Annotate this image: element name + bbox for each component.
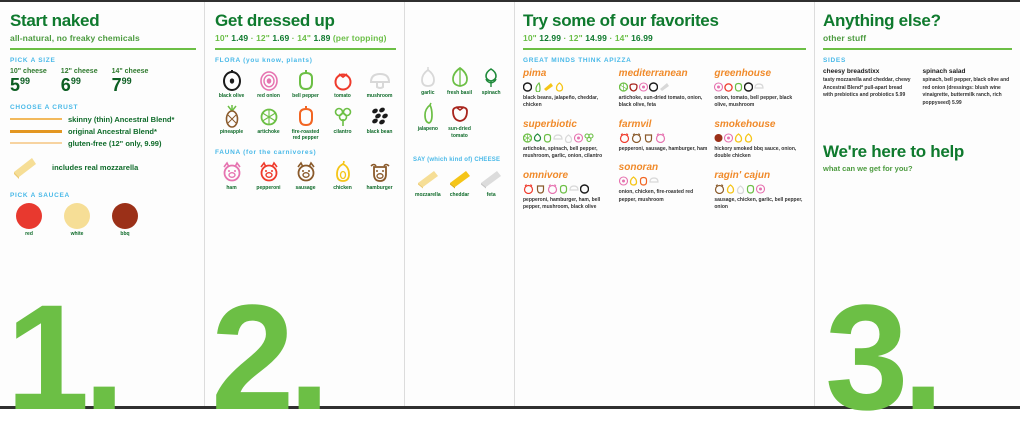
topping-item[interactable]: cilantro [326, 104, 359, 142]
panel-get-dressed-up: Get dressed up 10" 1.49 · 12" 1.69 · 14"… [205, 2, 405, 406]
panel1-title: Start naked [10, 12, 196, 30]
cheese-item[interactable]: mozzarella [413, 167, 443, 198]
flora-label: FLORA (you know, plants) [215, 57, 396, 64]
pizza-topping-icons [523, 132, 615, 144]
step-number-1: 1. [6, 282, 119, 432]
choose-a-crust-label: CHOOSE A CRUST [10, 104, 196, 111]
pig-icon [252, 160, 285, 184]
favorites-column: pima black beans, jalapeño, cheddar, chi… [523, 68, 615, 221]
topping-label: bell pepper [289, 93, 322, 99]
pizza-topping-icons [619, 175, 711, 187]
sauce-option[interactable]: bbq [112, 203, 138, 237]
pizza-description: sausage, chicken, garlic, bell pepper, o… [714, 197, 806, 212]
pizza-item[interactable]: ragin' cajun sausage, chicken, garlic, b… [714, 170, 806, 212]
sauce-swatch-icon [64, 203, 90, 229]
topping-label: fresh basil [445, 90, 475, 96]
pizza-item[interactable]: superbiotic artichoke, spinach, bell pep… [523, 119, 615, 161]
side-item[interactable]: spinach salad spinach, bell pepper, blac… [923, 68, 1013, 108]
sauce-label: white [64, 231, 90, 237]
panel5-title: Anything else? [823, 12, 1012, 30]
size-options: 10" cheese 599 12" cheese 699 14" cheese… [10, 68, 196, 94]
pizza-item[interactable]: sonoran onion, chicken, fire-roasted red… [619, 162, 711, 204]
topping-label: cilantro [326, 129, 359, 135]
side-name: spinach salad [923, 68, 1013, 75]
cheese-row: mozzarella cheddar feta [413, 167, 506, 198]
favorites-columns: pima black beans, jalapeño, cheddar, chi… [523, 68, 806, 221]
panel-anything-else: Anything else? other stuff SIDES cheesy … [815, 2, 1020, 406]
size-price: 699 [61, 76, 98, 94]
topping-item[interactable]: pineapple [215, 104, 248, 142]
topping-item[interactable]: black bean [363, 104, 396, 142]
pig-icon [289, 160, 322, 184]
topping-item[interactable]: fresh basil [445, 65, 475, 96]
step-number-2: 2. [211, 282, 324, 432]
pizza-topping-icons [619, 81, 711, 93]
pizza-item[interactable]: pima black beans, jalapeño, cheddar, chi… [523, 68, 615, 110]
step-number-3: 3. [825, 282, 938, 432]
jalapeno-icon [413, 101, 443, 125]
topping-label: ham [215, 185, 248, 191]
sauce-option[interactable]: white [64, 203, 90, 237]
topping-item[interactable]: red onion [252, 68, 285, 99]
favorites-column: greenhouse onion, tomato, bell pepper, b… [714, 68, 806, 221]
size-name: 12" cheese [61, 68, 98, 75]
size-name: 10" cheese [10, 68, 47, 75]
topping-item[interactable]: chicken [326, 160, 359, 191]
topping-label: black bean [363, 129, 396, 135]
topping-label: pepperoni [252, 185, 285, 191]
pizza-name: mediterranean [619, 68, 711, 79]
crust-label: gluten-free (12" only, 9.99) [68, 139, 161, 148]
garlic-icon [413, 65, 443, 89]
cheese-icon [476, 167, 506, 191]
pizza-topping-icons [523, 183, 615, 195]
pizza-topping-icons [619, 132, 711, 144]
topping-label: fire-roasted red pepper [289, 129, 322, 142]
help-title: We're here to help [823, 142, 1012, 162]
cheese-label: SAY (which kind of) CHEESE [413, 157, 506, 163]
panel1-divider [10, 48, 196, 50]
panel2-price-line: 10" 1.49 · 12" 1.69 · 14" 1.89 (per topp… [215, 33, 396, 43]
topping-item[interactable]: jalapeno [413, 101, 443, 139]
sundried-tomato-icon [445, 101, 475, 125]
herb-row-2: jalapeno sun-dried tomato [413, 101, 506, 139]
pizza-name: sonoran [619, 162, 711, 173]
apizza-label: GREAT MINDS THINK APIZZA [523, 57, 806, 64]
crust-option[interactable]: gluten-free (12" only, 9.99) [10, 139, 196, 148]
panel4-price-line: 10" 12.99 · 12" 14.99 · 14" 16.99 [523, 33, 806, 43]
topping-item[interactable]: sausage [289, 160, 322, 191]
pizza-description: pepperoni, hamburger, ham, bell pepper, … [523, 197, 615, 212]
cheese-label-text: mozzarella [413, 192, 443, 198]
crust-label: skinny (thin) Ancestral Blend* [68, 115, 174, 124]
cow-icon [363, 160, 396, 184]
panel2-title: Get dressed up [215, 12, 396, 30]
pizza-description: artichoke, sun-dried tomato, onion, blac… [619, 95, 711, 110]
topping-item[interactable]: sun-dried tomato [445, 101, 475, 139]
size-option[interactable]: 12" cheese 699 [61, 68, 98, 94]
topping-item[interactable]: black olive [215, 68, 248, 99]
pizza-name: smokehouse [714, 119, 806, 130]
chicken-icon [326, 160, 359, 184]
flora-row-1: black olive red onion bell pepper tomato… [215, 68, 396, 99]
topping-item[interactable]: hamburger [363, 160, 396, 191]
topping-item[interactable]: bell pepper [289, 68, 322, 99]
cheese-item[interactable]: feta [476, 167, 506, 198]
pig-icon [215, 160, 248, 184]
topping-item[interactable]: garlic [413, 65, 443, 96]
pizza-name: ragin' cajun [714, 170, 806, 181]
topping-item[interactable]: fire-roasted red pepper [289, 104, 322, 142]
pizza-item[interactable]: smokehouse hickory smoked bbq sauce, oni… [714, 119, 806, 161]
size-price: 599 [10, 76, 47, 94]
pizza-name: superbiotic [523, 119, 615, 130]
herb-row-1: garlic fresh basil spinach [413, 65, 506, 96]
panel2-divider [215, 48, 396, 50]
sauce-label: red [16, 231, 42, 237]
pick-a-sauce-label: PICK A SAUCEA [10, 192, 196, 199]
size-option[interactable]: 14" cheese 799 [112, 68, 149, 94]
pepper-icon [289, 68, 322, 92]
pizza-topping-icons [714, 81, 806, 93]
sauce-swatch-icon [16, 203, 42, 229]
panel4-divider [523, 48, 806, 50]
fauna-label: FAUNA (for the carnivores) [215, 149, 396, 156]
pizza-description: onion, tomato, bell pepper, black olive,… [714, 95, 806, 110]
olive-icon [215, 68, 248, 92]
pizza-description: pepperoni, sausage, hamburger, ham [619, 146, 711, 154]
sauce-option[interactable]: red [16, 203, 42, 237]
topping-label: hamburger [363, 185, 396, 191]
side-name: cheesy breadstixx [823, 68, 913, 75]
topping-item[interactable]: mushroom [363, 68, 396, 99]
pizza-topping-icons [523, 81, 615, 93]
topping-spacer [476, 101, 506, 139]
pizza-name: omnivore [523, 170, 615, 181]
sides-list: cheesy breadstixx tasty mozzarella and c… [823, 68, 1012, 108]
menu-page: Start naked all-natural, no freaky chemi… [0, 0, 1020, 409]
pizza-name: greenhouse [714, 68, 806, 79]
crust-line-icon [10, 130, 62, 133]
topping-item[interactable]: tomato [326, 68, 359, 99]
size-option[interactable]: 10" cheese 599 [10, 68, 47, 94]
panel4-title: Try some of our favorites [523, 12, 806, 30]
sauce-swatch-icon [112, 203, 138, 229]
panel5-subtitle: other stuff [823, 33, 1012, 43]
crust-option[interactable]: skinny (thin) Ancestral Blend* [10, 115, 196, 124]
topping-label: mushroom [363, 93, 396, 99]
topping-label: red onion [252, 93, 285, 99]
mozzarella-note-row: includes real mozzarella [10, 156, 196, 180]
roasted-pepper-icon [289, 104, 322, 128]
cheese-item[interactable]: cheddar [445, 167, 475, 198]
topping-item[interactable]: ham [215, 160, 248, 191]
pizza-description: hickory smoked bbq sauce, onion, double … [714, 146, 806, 161]
panel-start-naked: Start naked all-natural, no freaky chemi… [0, 2, 205, 406]
topping-label: spinach [476, 90, 506, 96]
topping-label: pineapple [215, 129, 248, 135]
cilantro-icon [326, 104, 359, 128]
cheese-slice-icon [10, 156, 40, 180]
pizza-description: artichoke, spinach, bell pepper, mushroo… [523, 146, 615, 161]
panel1-subtitle: all-natural, no freaky chemicals [10, 33, 196, 43]
artichoke-icon [252, 104, 285, 128]
pizza-description: onion, chicken, fire-roasted red pepper,… [619, 189, 711, 204]
pineapple-icon [215, 104, 248, 128]
pizza-item[interactable]: farmvil pepperoni, sausage, hamburger, h… [619, 119, 711, 154]
cheese-icon [413, 167, 443, 191]
side-description: tasty mozzarella and cheddar, chewy Ance… [823, 77, 913, 100]
pizza-item[interactable]: mediterranean artichoke, sun-dried tomat… [619, 68, 711, 110]
topping-label: black olive [215, 93, 248, 99]
size-name: 14" cheese [112, 68, 149, 75]
topping-item[interactable]: artichoke [252, 104, 285, 142]
panel5-divider [823, 48, 1012, 50]
topping-item[interactable]: pepperoni [252, 160, 285, 191]
flora-row-2: pineapple artichoke fire-roasted red pep… [215, 104, 396, 142]
topping-label: jalapeno [413, 126, 443, 132]
topping-label: chicken [326, 185, 359, 191]
crust-line-icon [10, 118, 62, 120]
crust-line-icon [10, 142, 62, 144]
mozzarella-note: includes real mozzarella [52, 163, 138, 172]
topping-label: artichoke [252, 129, 285, 135]
cheese-icon [445, 167, 475, 191]
cheese-label-text: feta [476, 192, 506, 198]
favorites-column: mediterranean artichoke, sun-dried tomat… [619, 68, 711, 221]
panel-herbs-cheese: garlic fresh basil spinach jalapeno sun-… [405, 2, 515, 406]
pizza-item[interactable]: greenhouse onion, tomato, bell pepper, b… [714, 68, 806, 110]
basil-icon [445, 65, 475, 89]
sides-label: SIDES [823, 57, 1012, 64]
cheese-label-text: cheddar [445, 192, 475, 198]
help-subtitle: what can we get for you? [823, 164, 1012, 173]
crust-label: original Ancestral Blend* [68, 127, 157, 136]
spinach-icon [476, 65, 506, 89]
sauce-label: bbq [112, 231, 138, 237]
pizza-topping-icons [714, 132, 806, 144]
topping-label: sun-dried tomato [445, 126, 475, 139]
topping-label: garlic [413, 90, 443, 96]
fauna-row: ham pepperoni sausage chicken hamburger [215, 160, 396, 191]
panel-favorites: Try some of our favorites 10" 12.99 · 12… [515, 2, 815, 406]
bean-icon [363, 104, 396, 128]
mushroom-icon [363, 68, 396, 92]
size-price: 799 [112, 76, 149, 94]
topping-label: tomato [326, 93, 359, 99]
pizza-name: pima [523, 68, 615, 79]
sauce-options: red white bbq [10, 203, 196, 237]
topping-label: sausage [289, 185, 322, 191]
help-section: We're here to help what can we get for y… [823, 142, 1012, 173]
pizza-topping-icons [714, 183, 806, 195]
tomato-icon [326, 68, 359, 92]
pizza-description: black beans, jalapeño, cheddar, chicken [523, 95, 615, 110]
side-item[interactable]: cheesy breadstixx tasty mozzarella and c… [823, 68, 913, 108]
pizza-item[interactable]: omnivore pepperoni, hamburger, ham, bell… [523, 170, 615, 212]
pick-a-size-label: PICK A SIZE [10, 57, 196, 64]
side-description: spinach, bell pepper, black olive and re… [923, 77, 1013, 108]
topping-item[interactable]: spinach [476, 65, 506, 96]
pizza-name: farmvil [619, 119, 711, 130]
crust-option[interactable]: original Ancestral Blend* [10, 127, 196, 136]
onion-icon [252, 68, 285, 92]
